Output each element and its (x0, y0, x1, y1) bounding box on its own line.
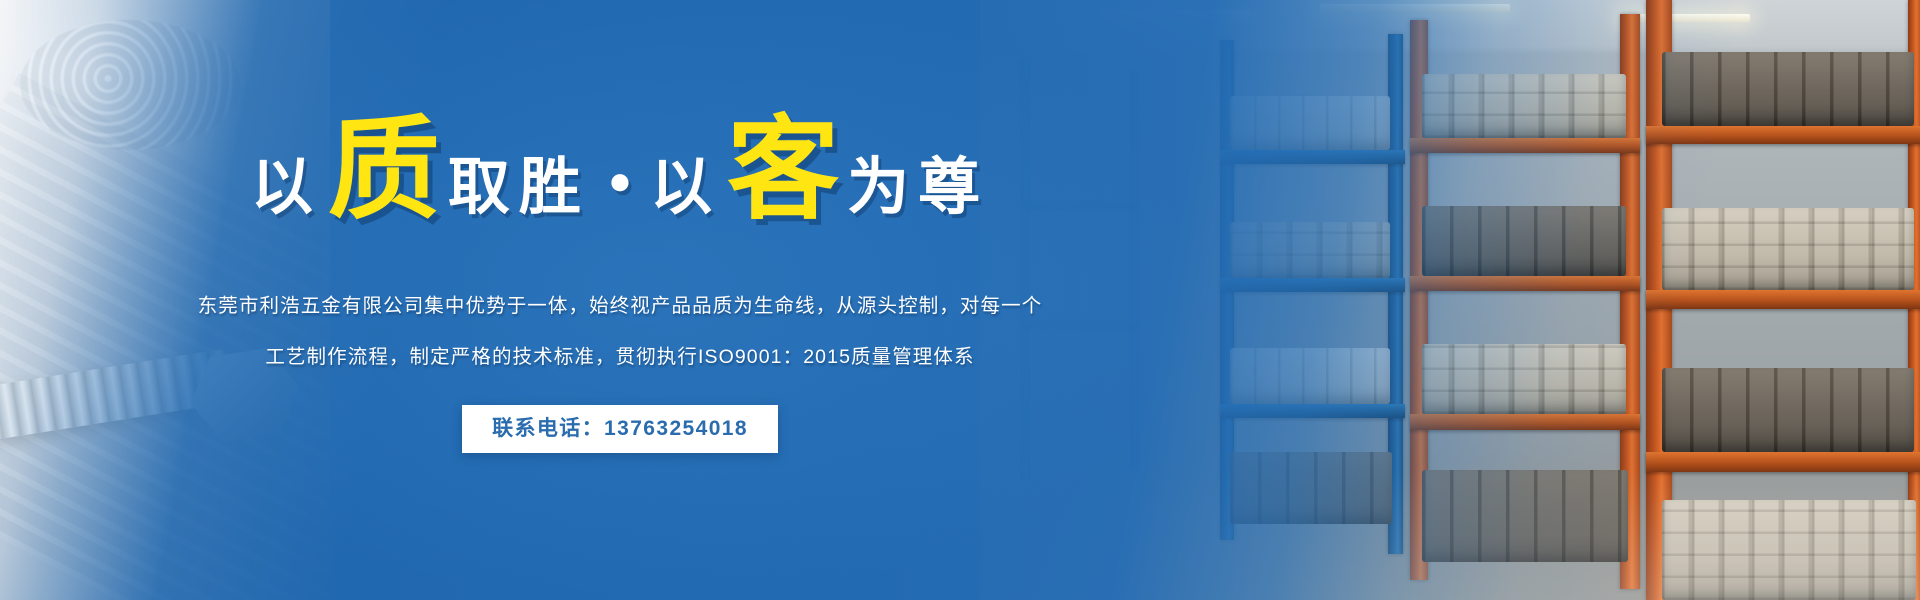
headline-word-4: 为尊 (847, 157, 989, 219)
subtitle-line-2: 工艺制作流程，制定严格的技术标准，贯彻执行ISO9001：2015质量管理体系 (265, 340, 974, 369)
headline-word-3: 以 (650, 157, 721, 219)
headline-highlight-2: 客 (721, 118, 847, 221)
subtitle-line-1: 东莞市利浩五金有限公司集中优势于一体，始终视产品品质为生命线，从源头控制，对每一… (198, 289, 1043, 318)
banner-content: 以 质 取胜 ● 以 客 为尊 东莞市利浩五金有限公司集中优势于一体，始终视产品… (0, 0, 1240, 600)
headline-highlight-1: 质 (322, 118, 448, 221)
headline-separator-dot-icon: ● (590, 161, 650, 201)
headline-word-2: 取胜 (448, 157, 590, 219)
headline: 以 质 取胜 ● 以 客 为尊 (251, 118, 989, 221)
contact-phone-button[interactable]: 联系电话：13763254018 (462, 405, 778, 453)
headline-word-1: 以 (251, 157, 322, 219)
promo-banner: 以 质 取胜 ● 以 客 为尊 东莞市利浩五金有限公司集中优势于一体，始终视产品… (0, 0, 1920, 600)
